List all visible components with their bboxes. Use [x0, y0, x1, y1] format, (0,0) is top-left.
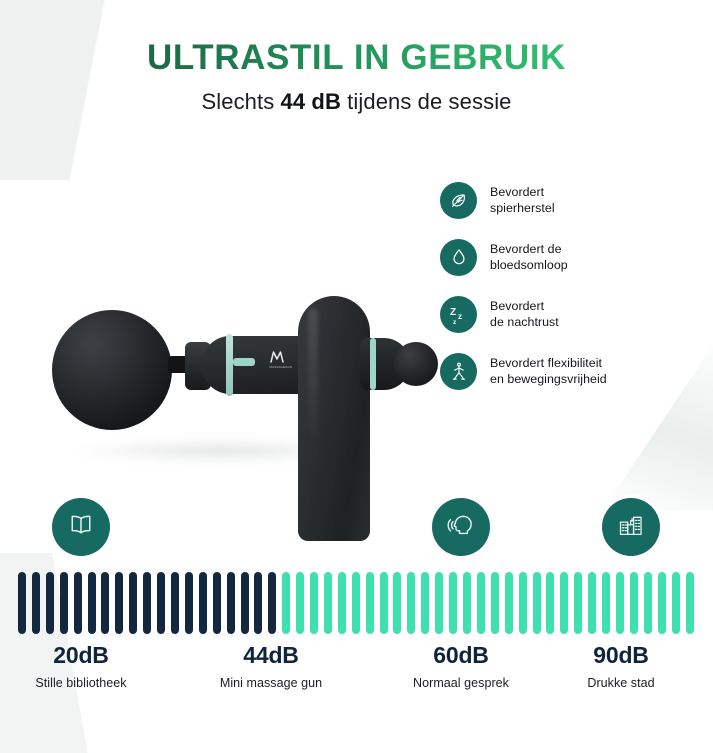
meter-bar-loud [282, 572, 290, 634]
meter-bar-loud [630, 572, 638, 634]
feature-line-1: Bevordert [490, 185, 544, 199]
meter-bar-loud [588, 572, 596, 634]
meter-bar-loud [560, 572, 568, 634]
meter-bar-loud [546, 572, 554, 634]
scale-step-90db: 90dB Drukke stad [531, 642, 711, 690]
page-subtitle: Slechts 44 dB tijdens de sessie [0, 89, 713, 115]
marker-normal-conversation [432, 498, 490, 556]
scale-step-value: 20dB [0, 642, 171, 669]
scale-step-value: 60dB [371, 642, 551, 669]
scale-step-60db: 60dB Normaal gesprek [371, 642, 551, 690]
feature-label: Bevordert spierherstel [490, 185, 555, 217]
meter-bar-loud [477, 572, 485, 634]
meter-bar-quiet [74, 572, 82, 634]
subtitle-suffix: tijdens de sessie [341, 89, 512, 114]
meter-bar-quiet [101, 572, 109, 634]
meter-bar-quiet [268, 572, 276, 634]
meter-bar-loud [463, 572, 471, 634]
feature-item-flexibility: Bevordert flexibiliteit en bewegingsvrij… [440, 343, 708, 400]
speaking-head-icon [447, 511, 475, 544]
scale-step-20db: 20dB Stille bibliotheek [0, 642, 171, 690]
marker-quiet-library [52, 498, 110, 556]
scale-step-description: Mini massage gun [181, 676, 361, 690]
meter-bar-loud [574, 572, 582, 634]
meter-bar-quiet [213, 572, 221, 634]
meter-bar-quiet [60, 572, 68, 634]
meter-bar-loud [533, 572, 541, 634]
meter-bar-loud [421, 572, 429, 634]
water-drop-icon [440, 239, 477, 276]
meter-bar-quiet [129, 572, 137, 634]
meter-bar-loud [324, 572, 332, 634]
feature-line-2: spierherstel [490, 201, 555, 215]
meter-bar-loud [407, 572, 415, 634]
scale-step-value: 44dB [181, 642, 361, 669]
meter-bar-loud [366, 572, 374, 634]
meter-bar-loud [505, 572, 513, 634]
meter-bar-quiet [241, 572, 249, 634]
meter-bar-loud [449, 572, 457, 634]
meter-bar-loud [616, 572, 624, 634]
city-buildings-icon [617, 511, 645, 544]
meter-bar-quiet [18, 572, 26, 634]
feature-item-muscle-recovery: Bevordert spierherstel [440, 172, 708, 229]
gun-rear-attachment [394, 342, 438, 386]
header: ULTRASTIL IN GEBRUIK Slechts 44 dB tijde… [0, 0, 713, 115]
feature-line-2: en bewegingsvrijheid [490, 372, 607, 386]
meter-bar-loud [519, 572, 527, 634]
meter-bar-loud [380, 572, 388, 634]
svg-text:z: z [458, 312, 462, 321]
svg-text:MASSAGEGUN: MASSAGEGUN [270, 365, 293, 369]
gun-accent-ring [226, 334, 233, 396]
sleep-zzz-icon: Z z z [440, 296, 477, 333]
gun-highlight [308, 308, 318, 448]
feature-line-1: Bevordert [490, 299, 544, 313]
feature-line-2: bloedsomloop [490, 258, 568, 272]
meter-bar-loud [686, 572, 694, 634]
feature-label: Bevordert de nachtrust [490, 299, 559, 331]
decibel-label-row: 20dB Stille bibliotheek 44dB Mini massag… [0, 642, 713, 704]
meter-bar-loud [338, 572, 346, 634]
meter-bar-loud [491, 572, 499, 634]
meter-bar-quiet [157, 572, 165, 634]
gun-ball-attachment [52, 310, 172, 430]
marker-busy-city [602, 498, 660, 556]
scale-step-description: Normaal gesprek [371, 676, 551, 690]
meter-bar-loud [658, 572, 666, 634]
feature-line-2: de nachtrust [490, 315, 559, 329]
feature-line-1: Bevordert de [490, 242, 562, 256]
leaf-icon [440, 182, 477, 219]
meter-bar-loud [435, 572, 443, 634]
gun-accent-tee [233, 358, 255, 366]
meter-bar-quiet [46, 572, 54, 634]
open-book-icon [67, 511, 95, 544]
feature-label: Bevordert flexibiliteit en bewegingsvrij… [490, 356, 607, 388]
meter-bar-loud [644, 572, 652, 634]
meter-bar-quiet [185, 572, 193, 634]
decibel-bar-meter [18, 572, 694, 634]
svg-text:z: z [453, 319, 457, 326]
meter-bar-quiet [171, 572, 179, 634]
meter-bar-loud [352, 572, 360, 634]
meter-bar-loud [602, 572, 610, 634]
scale-step-description: Drukke stad [531, 676, 711, 690]
stretching-person-icon [440, 353, 477, 390]
subtitle-prefix: Slechts [201, 89, 280, 114]
subtitle-highlight: 44 dB [281, 89, 341, 114]
scale-step-value: 90dB [531, 642, 711, 669]
gun-rear-accent-ring [370, 338, 376, 390]
meter-bar-loud [310, 572, 318, 634]
scale-step-44db: 44dB Mini massage gun [181, 642, 361, 690]
feature-line-1: Bevordert flexibiliteit [490, 356, 602, 370]
page-title: ULTRASTIL IN GEBRUIK [0, 40, 713, 77]
feature-item-night-rest: Z z z Bevordert de nachtrust [440, 286, 708, 343]
feature-list: Bevordert spierherstel Bevordert de bloe… [440, 172, 708, 400]
meter-bar-loud [393, 572, 401, 634]
brand-logo: MASSAGEGUN [268, 348, 294, 370]
meter-bar-loud [672, 572, 680, 634]
meter-bar-quiet [88, 572, 96, 634]
feature-item-blood-circulation: Bevordert de bloedsomloop [440, 229, 708, 286]
svg-text:Z: Z [450, 307, 456, 318]
meter-bar-quiet [143, 572, 151, 634]
scale-marker-row [0, 498, 713, 564]
feature-label: Bevordert de bloedsomloop [490, 242, 568, 274]
meter-bar-quiet [254, 572, 262, 634]
meter-bar-quiet [199, 572, 207, 634]
scale-step-description: Stille bibliotheek [0, 676, 171, 690]
meter-bar-loud [296, 572, 304, 634]
meter-bar-quiet [115, 572, 123, 634]
meter-bar-quiet [227, 572, 235, 634]
meter-bar-quiet [32, 572, 40, 634]
